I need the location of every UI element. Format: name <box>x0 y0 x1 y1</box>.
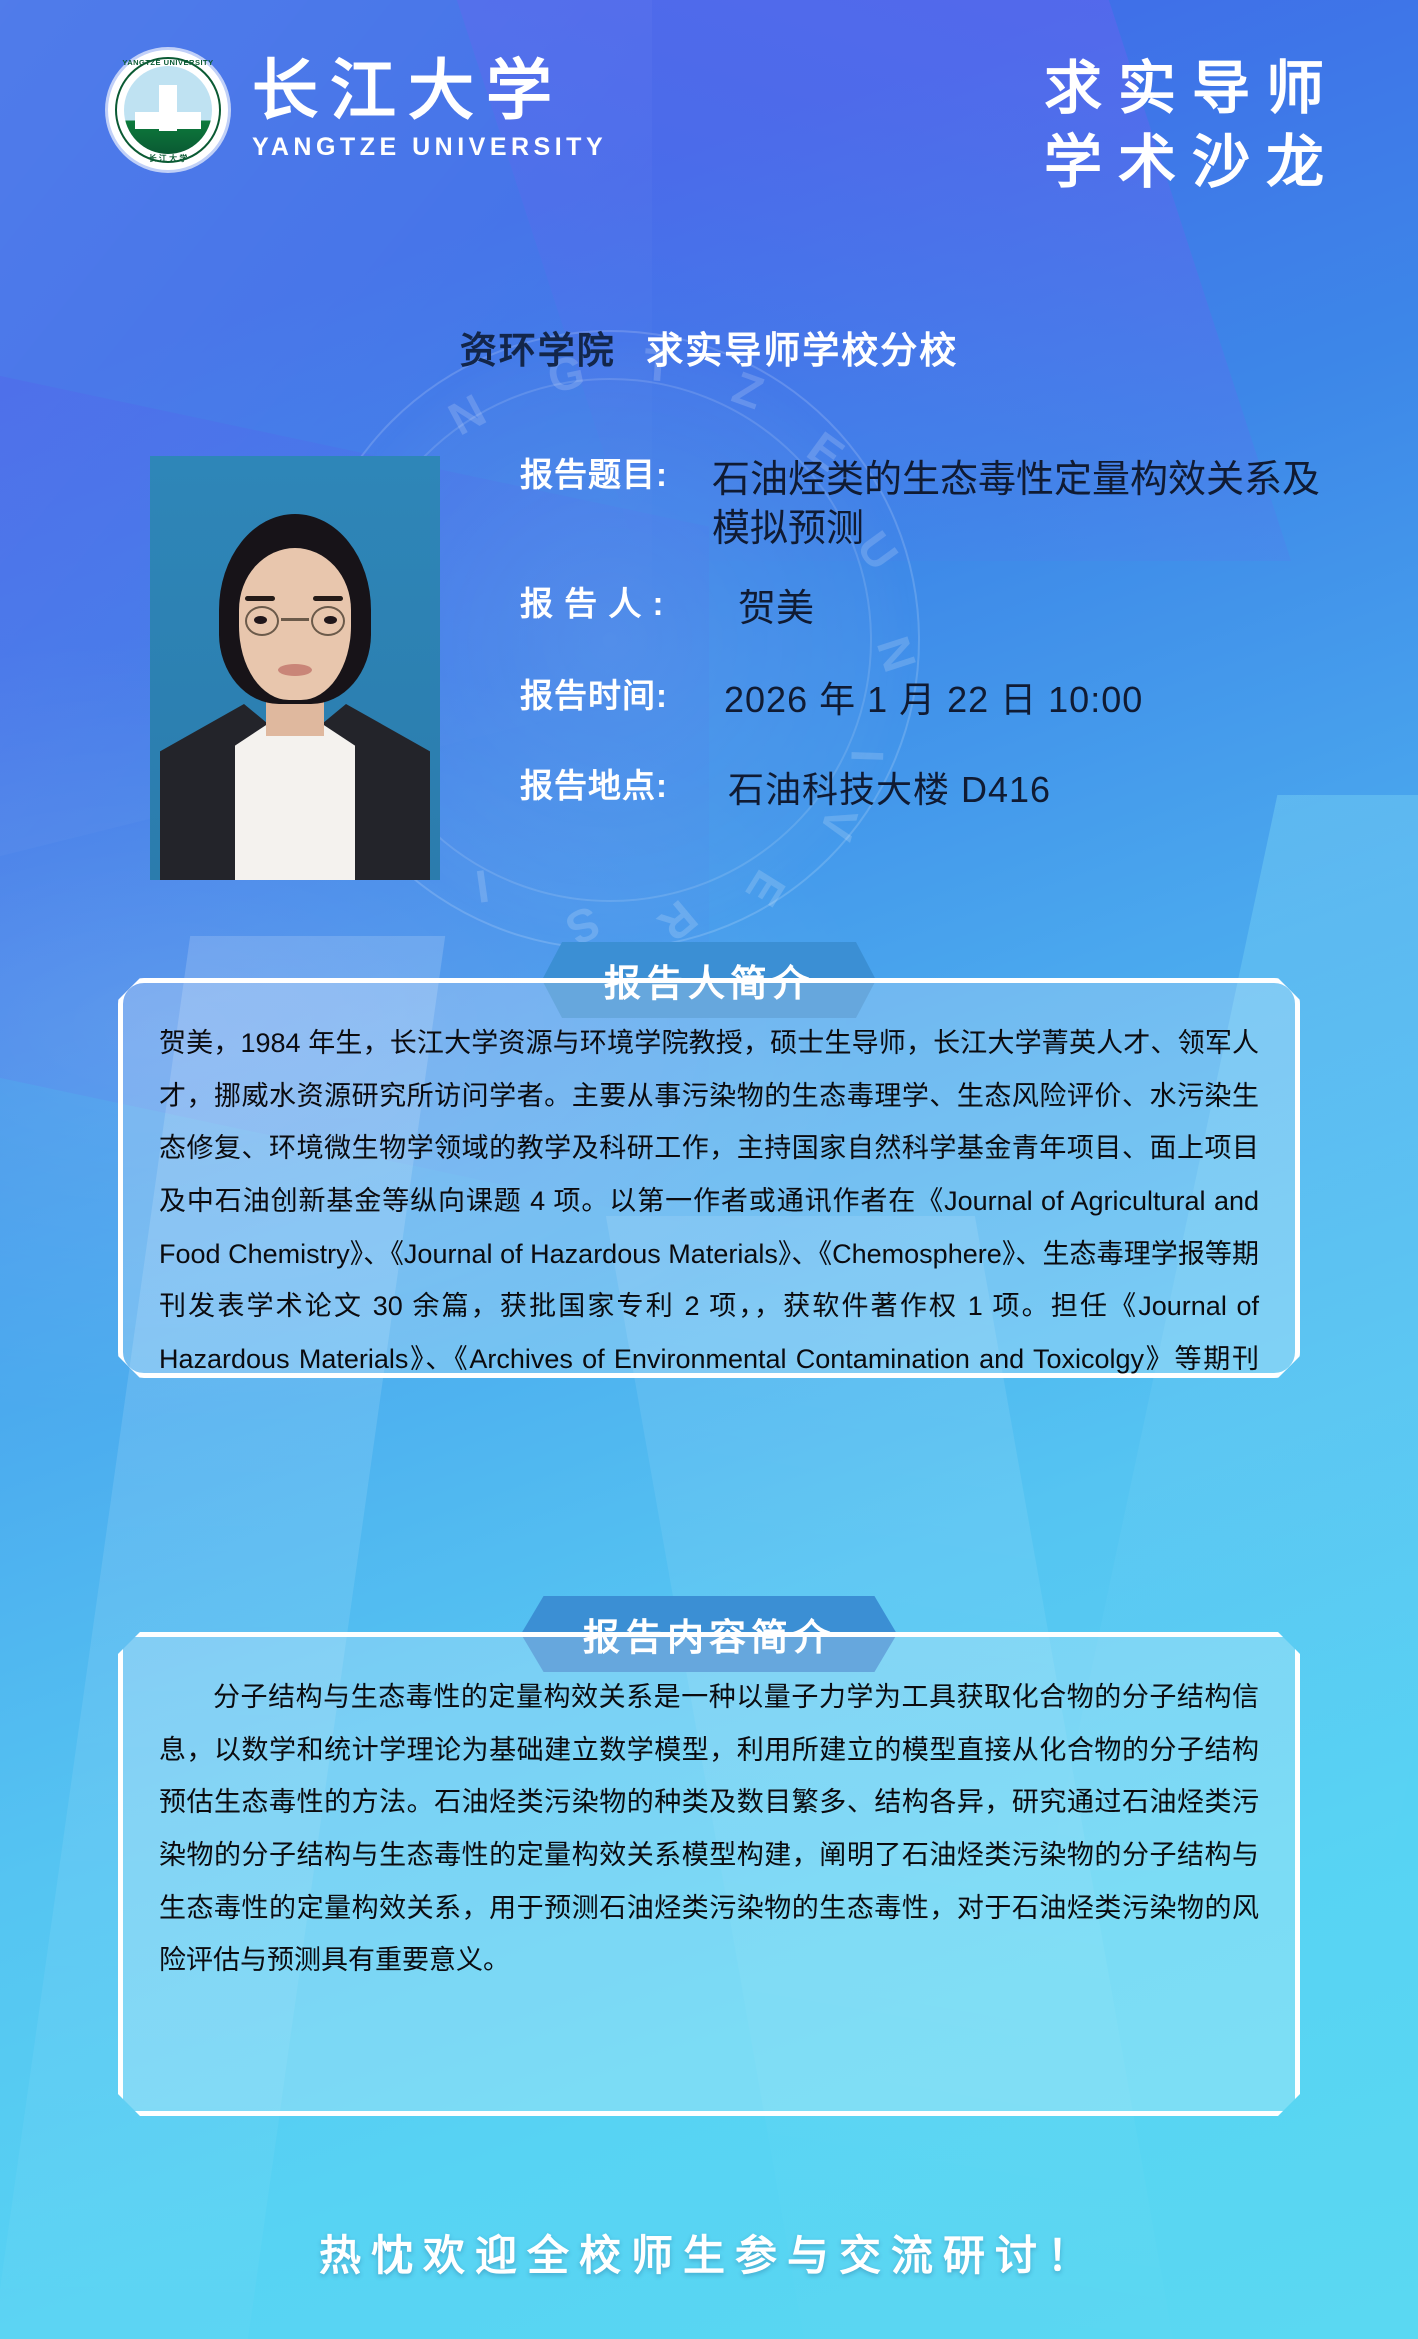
university-name-block: 长江大学 YANGTZE UNIVERSITY <box>252 59 607 162</box>
university-name-en: YANGTZE UNIVERSITY <box>252 133 607 162</box>
info-row-place: 报告地点: 石油科技大楼 D416 <box>520 767 1350 813</box>
university-name-cn: 长江大学 <box>252 59 607 125</box>
poster-main-title: 求实导师 学术沙龙 <box>1028 52 1340 200</box>
main-title-line-1: 求实导师 <box>1028 52 1340 126</box>
info-label-speaker: 报 告 人 : <box>520 585 712 624</box>
poster-root: Y A N G T Z E U N I V E R S I T Y YANGT <box>0 0 1418 2339</box>
info-label-title: 报告题目: <box>520 456 712 495</box>
university-crest-icon: YANGTZE UNIVERSITY 长 江 大 学 <box>108 50 228 170</box>
info-label-place: 报告地点: <box>520 767 712 806</box>
university-logo-row: YANGTZE UNIVERSITY 长 江 大 学 长江大学 YANGTZE … <box>108 50 607 170</box>
footer-welcome: 热忱欢迎全校师生参与交流研讨！ <box>0 2222 1418 2283</box>
bio-text: 贺美，1984 年生，长江大学资源与环境学院教授，硕士生导师，长江大学菁英人才、… <box>159 1017 1259 1438</box>
subtitle-college: 资环学院 <box>460 330 616 371</box>
crest-arc-bottom-label: 长 江 大 学 <box>108 153 228 164</box>
info-value-speaker: 贺美 <box>712 585 814 634</box>
bio-card: 贺美，1984 年生，长江大学资源与环境学院教授，硕士生导师，长江大学菁英人才、… <box>118 978 1300 1378</box>
subtitle-row: 资环学院 求实导师学校分校 <box>0 320 1418 374</box>
info-value-title: 石油烃类的生态毒性定量构效关系及模拟预测 <box>712 456 1350 555</box>
crest-arc-top-label: YANGTZE UNIVERSITY <box>108 58 228 67</box>
abstract-text: 分子结构与生态毒性的定量构效关系是一种以量子力学为工具获取化合物的分子结构信息，… <box>159 1671 1259 1987</box>
info-label-time: 报告时间: <box>520 677 712 716</box>
info-row-title: 报告题目: 石油烃类的生态毒性定量构效关系及模拟预测 <box>520 456 1350 555</box>
subtitle-series: 求实导师学校分校 <box>646 330 958 371</box>
info-row-speaker: 报 告 人 : 贺美 <box>520 585 1350 634</box>
abstract-card: 分子结构与生态毒性的定量构效关系是一种以量子力学为工具获取化合物的分子结构信息，… <box>118 1632 1300 2116</box>
main-title-line-2: 学术沙龙 <box>1028 126 1340 200</box>
info-value-place: 石油科技大楼 D416 <box>712 767 1051 813</box>
info-row-time: 报告时间: 2026 年 1 月 22 日 10:00 <box>520 677 1350 723</box>
talk-info-block: 报告题目: 石油烃类的生态毒性定量构效关系及模拟预测 报 告 人 : 贺美 报告… <box>520 456 1350 824</box>
info-value-time: 2026 年 1 月 22 日 10:00 <box>712 677 1143 723</box>
speaker-photo <box>150 456 440 880</box>
